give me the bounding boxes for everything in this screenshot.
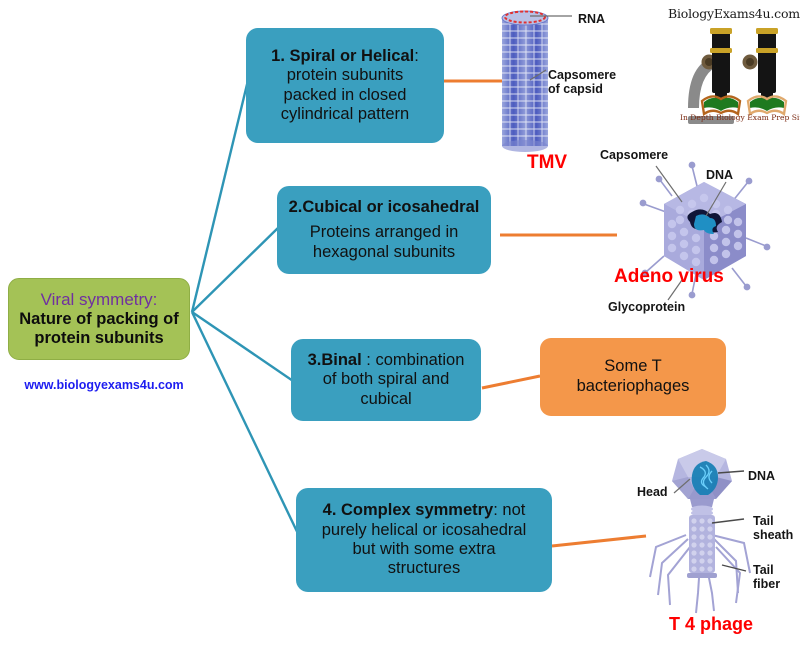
cat-4-heading-row: 4. Complex symmetry: not [323,501,526,520]
cat-1-heading-row: 1. Spiral or Helical: [271,47,419,66]
cat-4-heading-suffix: : not [493,501,525,519]
label-dna-adeno: DNA [706,168,733,182]
category-box-complex-symmetry[interactable]: 4. Complex symmetry: not purely helical … [296,488,552,592]
site-url-text[interactable]: www.biologyexams4u.com [16,378,192,392]
category-box-cubical-icosahedral[interactable]: 2.Cubical or icosahedral Proteins arrang… [277,186,491,274]
label-capsomere-line-1: Capsomere [548,68,638,82]
logo-title-text: BiologyExams4u.com [668,6,796,21]
logo-tagline-text: In Depth Biology Exam Prep Site [680,113,796,122]
label-dna-t4: DNA [748,469,775,483]
cat-2-heading-row: 2.Cubical or icosahedral [289,198,480,217]
caption-t4-phage: T 4 phage [669,614,753,635]
caption-adeno-virus: Adeno virus [614,266,724,288]
cat-2-heading: 2.Cubical or icosahedral [289,198,480,216]
cat-4-body-line-3: structures [388,559,460,578]
cat-1-body-line-2: packed in closed [284,86,407,105]
cat-3-heading: 3.Binal [308,351,362,369]
label-tail-sheath-line-1: Tail [753,514,797,528]
cat-1-body-line-3: cylindrical pattern [281,105,409,124]
label-tail-fiber-line-2: fiber [753,577,795,591]
branch-to-cat-2 [192,225,281,312]
label-glycoprotein-adeno: Glycoprotein [608,300,685,314]
cat-1-body-line-1: protein subunits [287,66,404,85]
cat-3-body-line-1: of both spiral and [323,370,450,389]
diagram-canvas: Viral symmetry: Nature of packing of pro… [0,0,800,668]
cat-4-body-line-2: but with some extra [352,540,495,559]
cat-1-heading: 1. Spiral or Helical [271,47,414,65]
example-box-line-1: Some T [604,357,661,377]
branch-to-cat-3 [192,312,296,383]
cat-3-body-line-2: cubical [360,390,411,409]
root-node-subtitle-line1: Nature of packing of [19,310,179,329]
category-box-binal[interactable]: 3.Binal : combination of both spiral and… [291,339,481,421]
link-cat4-to-t4 [552,536,646,546]
cat-3-heading-suffix: : combination [362,351,465,369]
example-box-line-2: bacteriophages [577,377,690,397]
cat-4-heading: 4. Complex symmetry [323,501,494,519]
label-tail-sheath-line-2: sheath [753,528,797,542]
category-box-spiral-helical[interactable]: 1. Spiral or Helical: protein subunits p… [246,28,444,143]
label-tail-fiber-line-1: Tail [753,563,795,577]
cat-2-body-line-1: Proteins arranged in [310,223,459,242]
cat-4-body-line-1: purely helical or icosahedral [322,521,527,540]
label-capsomere-line-2: of capsid [548,82,638,96]
cat-1-heading-suffix: : [414,47,419,65]
cat-3-heading-row: 3.Binal : combination [308,351,465,370]
label-rna-tmv: RNA [578,12,605,26]
branch-to-cat-1 [192,72,250,312]
label-capsomere-adeno: Capsomere [600,148,668,162]
label-tail-fiber-t4: Tail fiber [753,563,795,591]
cat-2-body-line-2: hexagonal subunits [313,243,455,262]
example-box-t-bacteriophages[interactable]: Some T bacteriophages [540,338,726,416]
root-node-viral-symmetry[interactable]: Viral symmetry: Nature of packing of pro… [8,278,190,360]
label-tail-sheath-t4: Tail sheath [753,514,797,542]
label-head-t4: Head [637,485,668,499]
caption-tmv: TMV [527,152,567,174]
branch-to-cat-4 [192,312,302,542]
root-node-title: Viral symmetry: [41,290,158,310]
site-logo[interactable]: BiologyExams4u.com [668,4,796,132]
label-capsomere-of-capsid: Capsomere of capsid [548,68,638,96]
root-node-subtitle-line2: protein subunits [34,329,163,348]
link-cat3-to-example [482,376,540,388]
